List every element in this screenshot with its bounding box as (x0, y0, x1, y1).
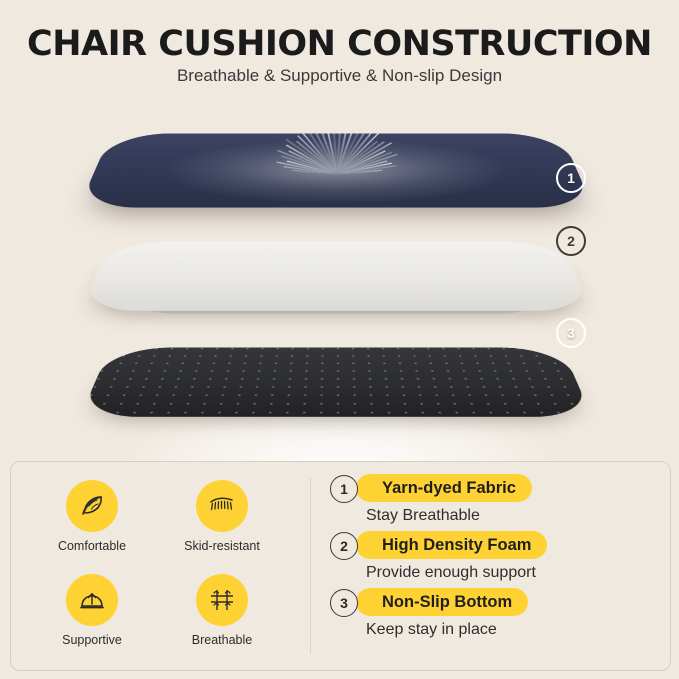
top-navy-fabric-layer (96, 108, 576, 228)
benefits-list: Yarn-dyed Fabric 1 Stay Breathable High … (330, 474, 660, 645)
benefit-number: 3 (330, 589, 358, 617)
layer-badge-2: 2 (556, 226, 586, 256)
benefit-title: Non-Slip Bottom (356, 588, 528, 616)
exploded-cushion-diagram (0, 96, 679, 456)
benefit-desc: Provide enough support (366, 564, 660, 582)
feature-skid-resistant: Skid-resistant (162, 480, 282, 553)
benefit-head: High Density Foam 2 (330, 531, 660, 559)
feature-label: Skid-resistant (162, 539, 282, 553)
benefit-title: Yarn-dyed Fabric (356, 474, 532, 502)
feature-supportive: Supportive (32, 574, 152, 647)
airflow-grid-icon (196, 574, 248, 626)
benefit-desc: Stay Breathable (366, 507, 660, 525)
feather-icon (66, 480, 118, 532)
benefit-number: 2 (330, 532, 358, 560)
benefit-head: Yarn-dyed Fabric 1 (330, 474, 660, 502)
bottom-layer-face (80, 348, 592, 417)
feature-label: Comfortable (32, 539, 152, 553)
feature-comfortable: Comfortable (32, 480, 152, 553)
bristles-icon (196, 480, 248, 532)
benefit-item-2: High Density Foam 2 Provide enough suppo… (330, 531, 660, 582)
feature-grid: Comfortable Skid-resistant Supportive (28, 478, 294, 654)
feature-breathable: Breathable (162, 574, 282, 647)
feature-label: Supportive (32, 633, 152, 647)
layer-badge-1: 1 (556, 163, 586, 193)
benefit-number: 1 (330, 475, 358, 503)
page-subtitle: Breathable & Supportive & Non-slip Desig… (0, 66, 679, 86)
layer-badge-3: 3 (556, 318, 586, 348)
feature-label: Breathable (162, 633, 282, 647)
benefit-head: Non-Slip Bottom 3 (330, 588, 660, 616)
benefit-item-1: Yarn-dyed Fabric 1 Stay Breathable (330, 474, 660, 525)
top-layer-face (79, 133, 594, 207)
light-rays (79, 133, 594, 207)
benefit-desc: Keep stay in place (366, 621, 660, 639)
benefit-item-3: Non-Slip Bottom 3 Keep stay in place (330, 588, 660, 639)
middle-layer-face (80, 242, 592, 311)
cushion-arrow-icon (66, 574, 118, 626)
panel-divider (310, 478, 311, 654)
page-title: CHAIR CUSHION CONSTRUCTION (0, 24, 679, 64)
benefit-title: High Density Foam (356, 531, 547, 559)
middle-foam-layer (96, 218, 576, 330)
bottom-nonslip-layer (96, 324, 576, 436)
product-infographic: CHAIR CUSHION CONSTRUCTION Breathable & … (0, 0, 679, 679)
